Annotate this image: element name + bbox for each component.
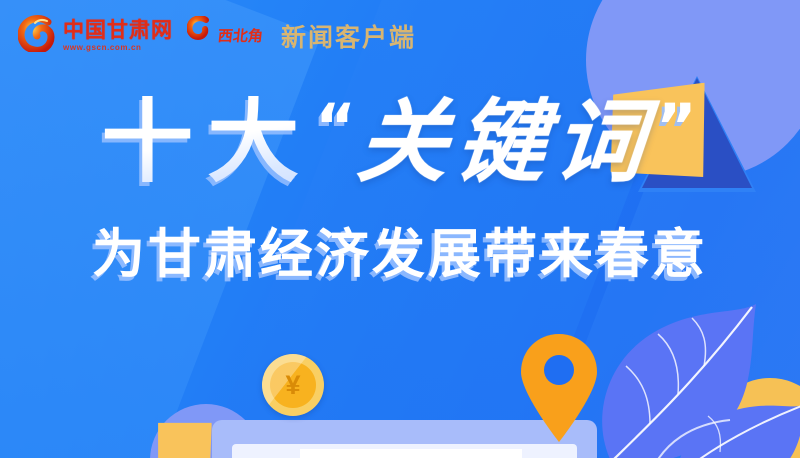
gscn-wordmark: 中国甘肃网 www.gscn.com.cn <box>63 20 173 52</box>
gscn-name: 中国甘肃网 <box>63 20 173 41</box>
quote-close-mark: ” <box>656 96 697 158</box>
title-keyword: 关键词 <box>354 97 656 187</box>
subtitle: 为甘肃经济发展带来春意 <box>0 228 800 281</box>
main-title: 十大 “ 关键词 ” <box>0 96 800 188</box>
leaf-decoration <box>580 274 800 458</box>
xibeijiao-logo[interactable]: 西北角 <box>187 16 263 55</box>
xibeijiao-name: 西北角 <box>217 25 264 46</box>
title-lead: 十大 <box>101 96 313 188</box>
xibeijiao-flame-mark-icon <box>187 16 211 55</box>
app-name-label: 新闻客户端 <box>281 18 416 54</box>
yuan-symbol: ¥ <box>262 354 324 416</box>
header-logos: 中国甘肃网 www.gscn.com.cn 西北角 <box>18 14 416 57</box>
screen-white-strip <box>300 449 522 458</box>
gscn-flame-mark-icon <box>18 14 56 57</box>
quote-open-mark: “ <box>315 96 356 158</box>
poster-banner: ¥ <box>0 0 800 458</box>
gscn-logo[interactable]: 中国甘肃网 www.gscn.com.cn <box>18 14 173 57</box>
location-pin-icon <box>515 332 603 444</box>
gscn-url: www.gscn.com.cn <box>63 44 173 52</box>
